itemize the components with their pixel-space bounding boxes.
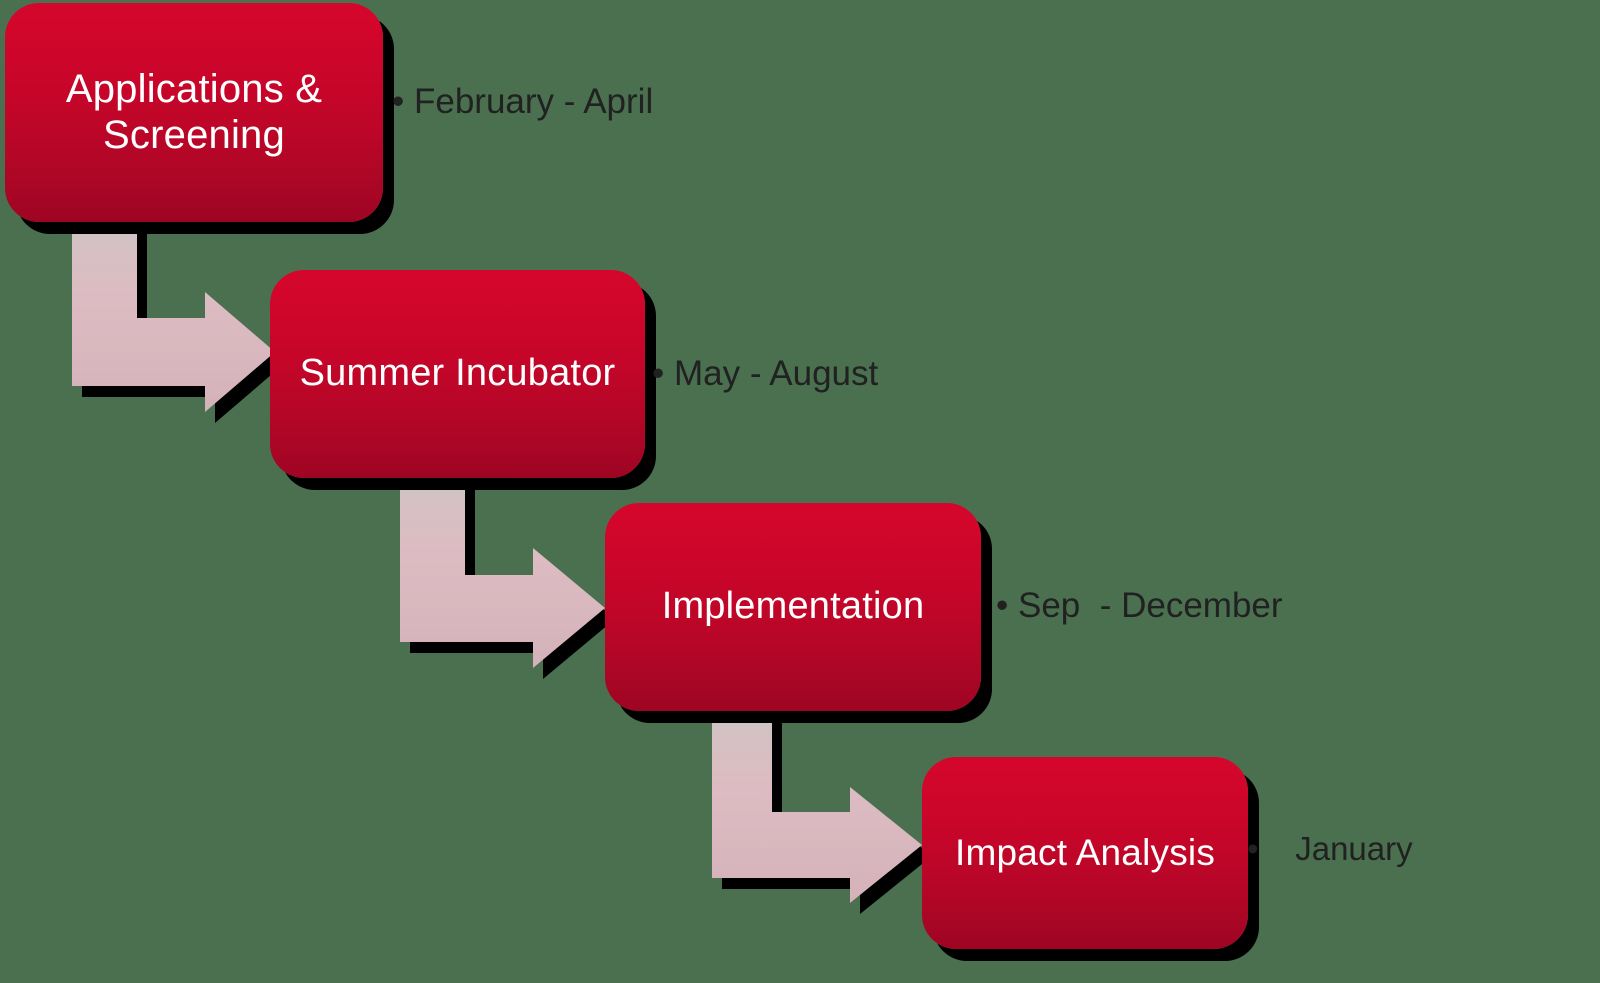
stage-box-impact[interactable]: Impact Analysis <box>922 757 1248 949</box>
stage-note-implementation: • Sep - December <box>996 586 1283 626</box>
stage-note-incubator: • May - August <box>652 354 878 394</box>
stage-label-applications: Applications & Screening <box>66 67 322 158</box>
stage-note-applications: • February - April <box>392 82 653 122</box>
stage-label-implementation: Implementation <box>662 585 925 628</box>
arrow-incubator-to-implementation <box>400 478 615 679</box>
stage-label-impact: Impact Analysis <box>955 832 1215 874</box>
stage-box-incubator[interactable]: Summer Incubator <box>270 270 645 478</box>
stage-label-incubator: Summer Incubator <box>300 352 616 395</box>
stage-note-impact: • January <box>1247 830 1413 868</box>
stage-box-implementation[interactable]: Implementation <box>605 503 981 711</box>
arrow-applications-to-incubator <box>72 222 285 423</box>
arrow-implementation-to-impact <box>712 711 932 914</box>
stage-box-applications[interactable]: Applications & Screening <box>5 3 383 222</box>
diagram-canvas: Applications & Screening • February - Ap… <box>0 0 1600 983</box>
